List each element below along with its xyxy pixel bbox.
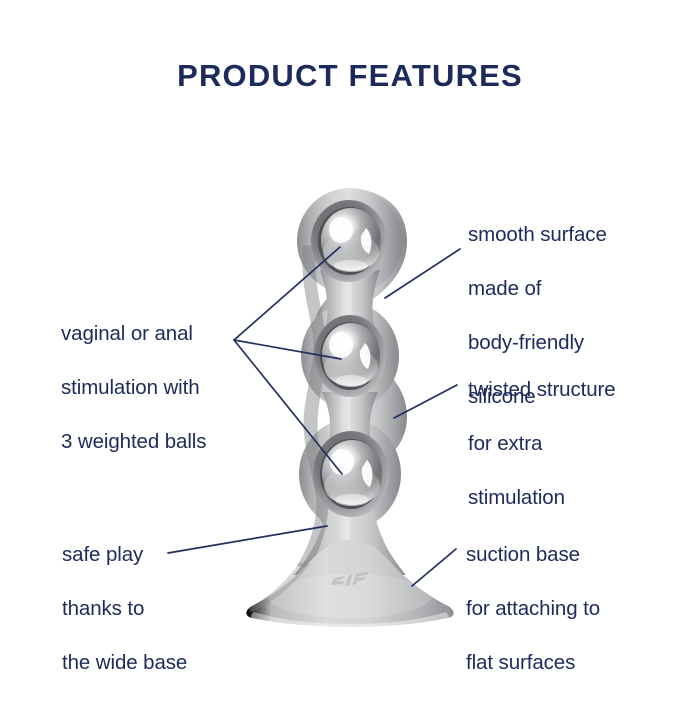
leader-vaginal-ball3	[234, 340, 342, 474]
leader-suction-base	[412, 549, 456, 586]
infographic-page: PRODUCT FEATURES	[0, 0, 700, 700]
leader-vaginal-ball1	[234, 247, 340, 340]
leader-twisted-structure	[394, 385, 457, 418]
leader-smooth-surface	[385, 249, 460, 298]
leader-lines	[0, 0, 700, 700]
leader-vaginal-ball2	[234, 340, 341, 359]
leader-safe-play	[168, 526, 327, 553]
